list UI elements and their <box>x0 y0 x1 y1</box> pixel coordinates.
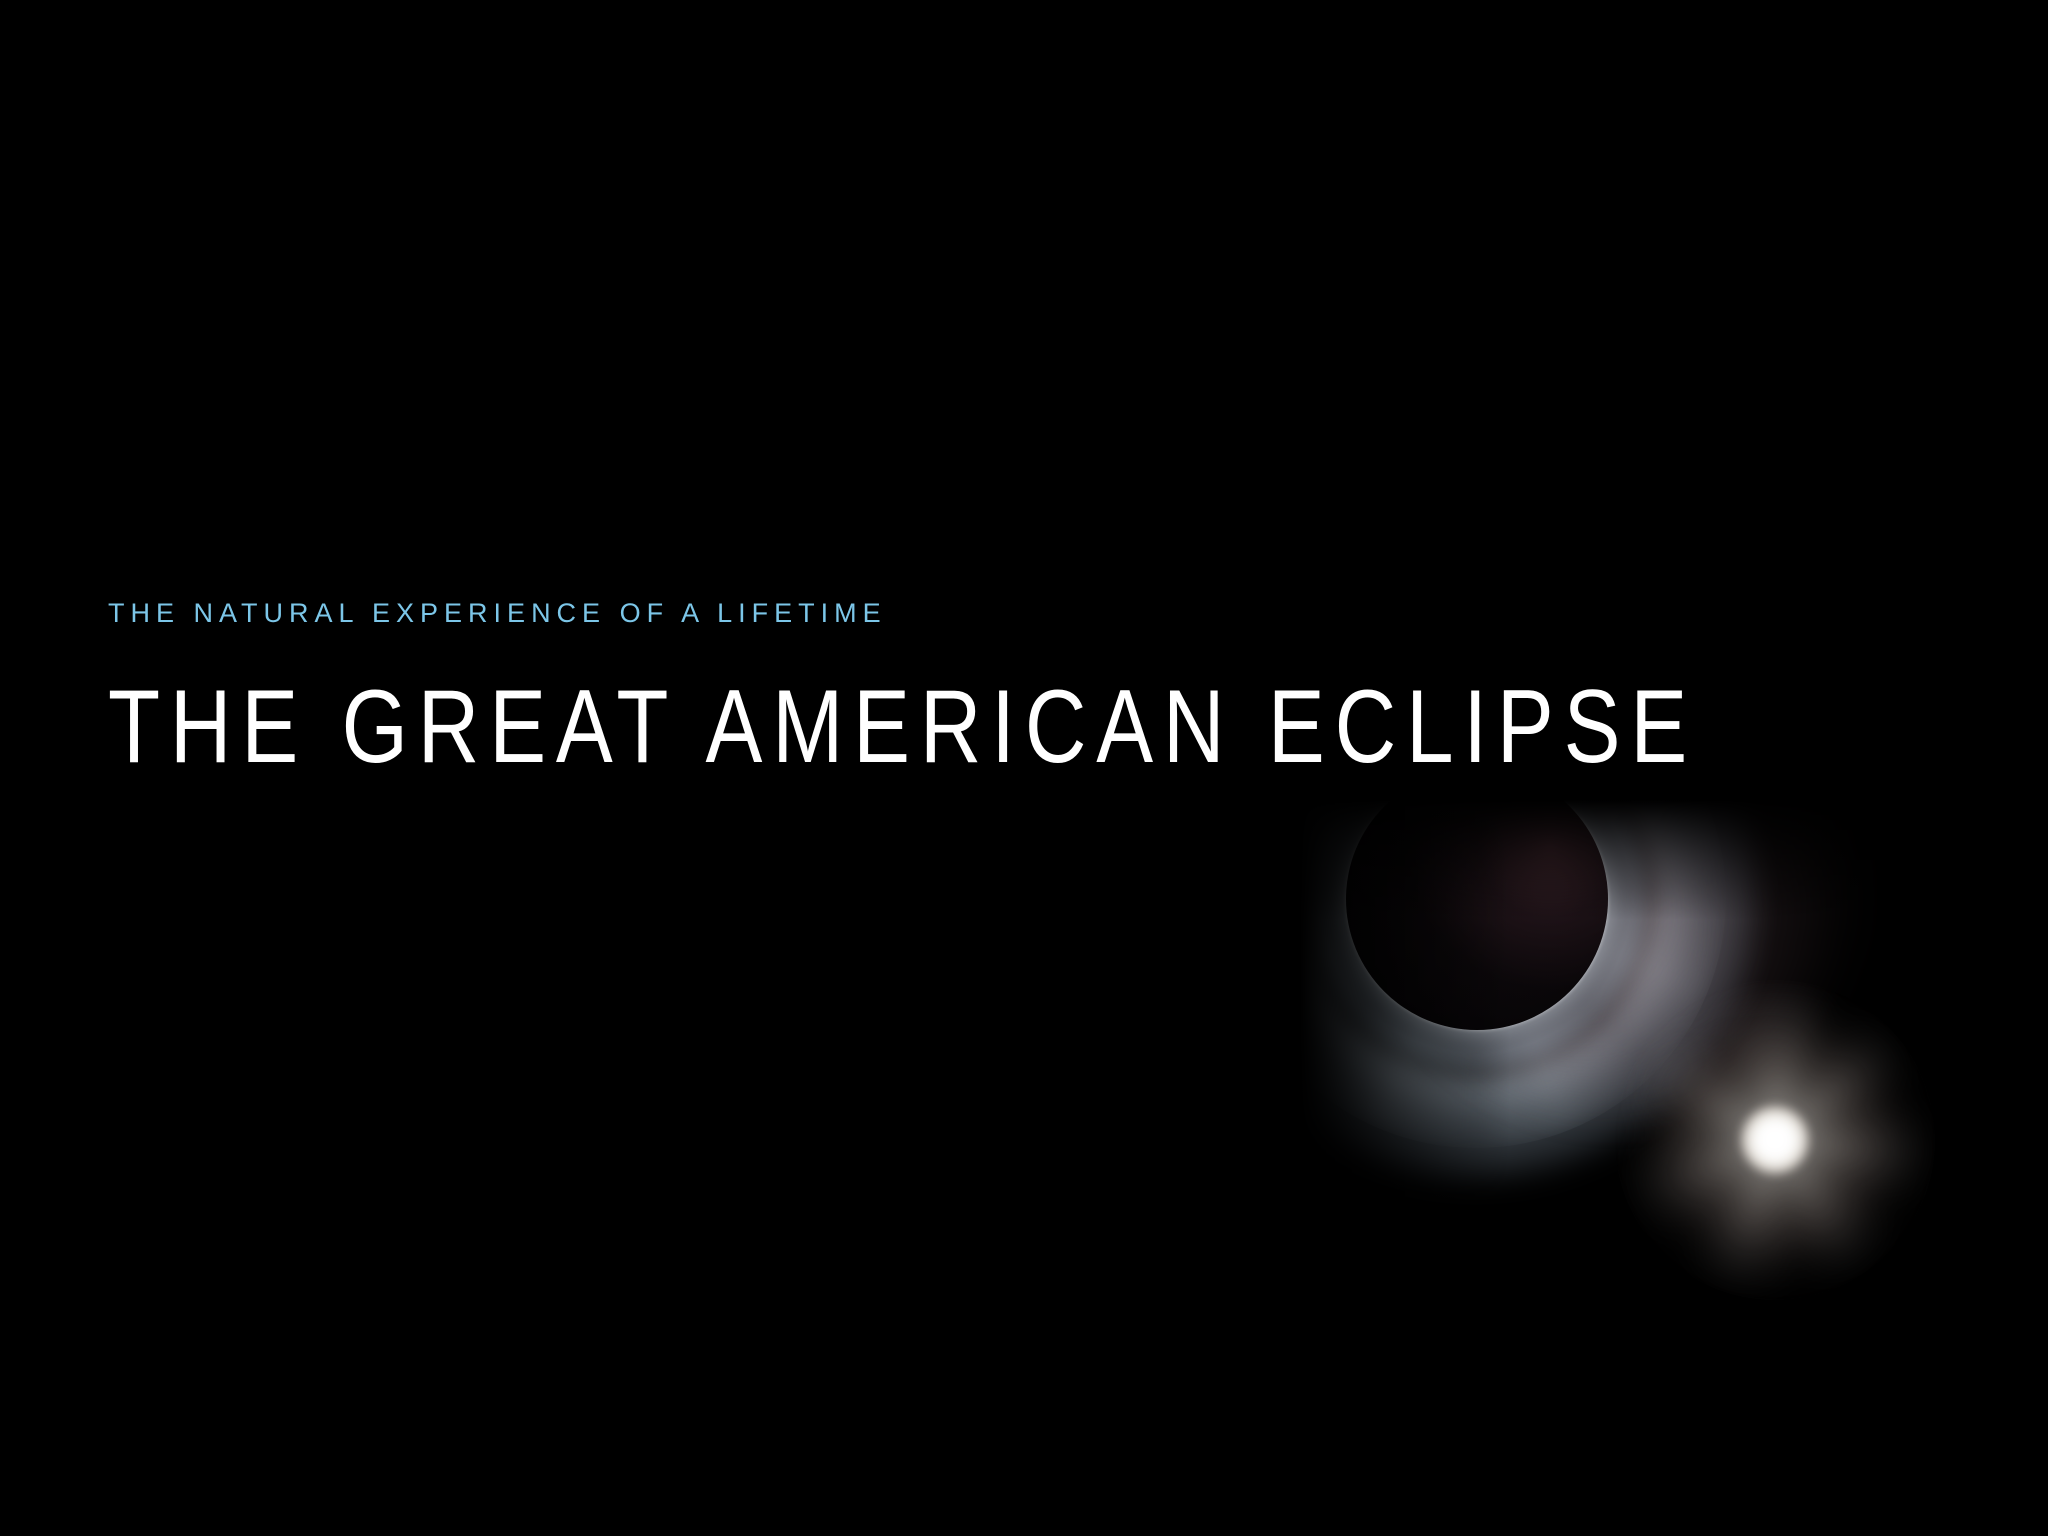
kicker-text: THE NATURAL EXPERIENCE OF A LIFETIME <box>108 600 1908 627</box>
diamond-ring-core <box>1741 1106 1809 1174</box>
title-slide: THE NATURAL EXPERIENCE OF A LIFETIME THE… <box>0 0 2048 1536</box>
title-text-block: THE NATURAL EXPERIENCE OF A LIFETIME THE… <box>108 600 1908 779</box>
page-title: THE GREAT AMERICAN ECLIPSE <box>108 627 1584 779</box>
